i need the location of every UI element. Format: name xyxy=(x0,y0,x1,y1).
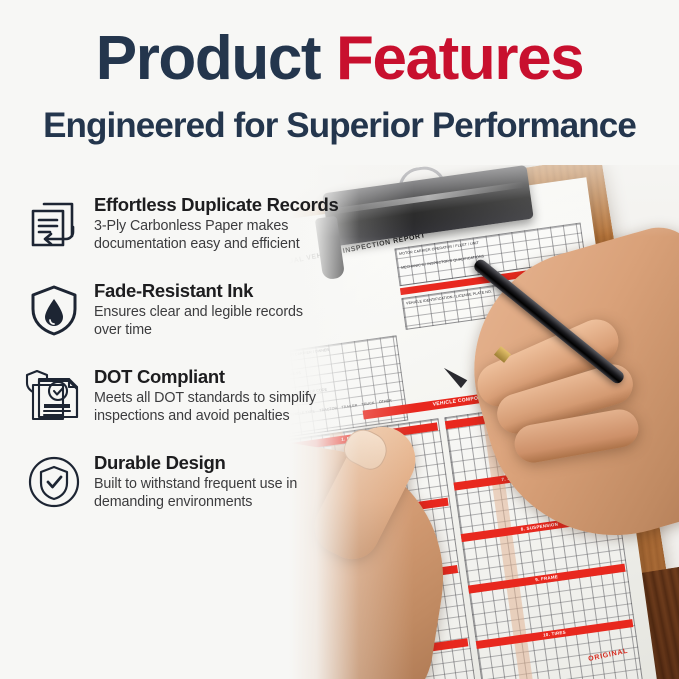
page-subtitle: Engineered for Superior Performance xyxy=(0,91,679,146)
duplicate-documents-icon xyxy=(22,192,86,256)
feature-text-block: Effortless Duplicate Records 3-Ply Carbo… xyxy=(86,192,339,254)
feature-title: DOT Compliant xyxy=(94,366,316,387)
feature-item-effortless-duplicate-records: Effortless Duplicate Records 3-Ply Carbo… xyxy=(22,192,362,264)
feature-description: Meets all DOT standards to simplify insp… xyxy=(94,389,316,425)
page-title: Product Features xyxy=(0,0,679,91)
circle-shield-check-icon xyxy=(22,450,86,514)
product-features-infographic: BUCK U.S ANNUAL VEHICLE INSPECTION REPOR… xyxy=(0,0,679,679)
feature-desc-line2: over time xyxy=(94,322,152,338)
feature-desc-line1: Meets all DOT standards to simplify xyxy=(94,390,316,406)
feature-title: Effortless Duplicate Records xyxy=(94,194,339,215)
title-part-features: Features xyxy=(336,24,583,93)
feature-description: Ensures clear and legible records over t… xyxy=(94,303,303,339)
feature-item-durable-design: Durable Design Built to withstand freque… xyxy=(22,450,362,522)
feature-title: Durable Design xyxy=(94,452,297,473)
shield-ink-drop-icon xyxy=(22,278,86,342)
feature-desc-line2: inspections and avoid penalties xyxy=(94,408,290,424)
title-part-product: Product xyxy=(96,24,320,93)
feature-item-fade-resistant-ink: Fade-Resistant Ink Ensures clear and leg… xyxy=(22,278,362,350)
feature-desc-line1: Ensures clear and legible records xyxy=(94,304,303,320)
feature-description: Built to withstand frequent use in deman… xyxy=(94,475,297,511)
feature-desc-line2: demanding environments xyxy=(94,494,252,510)
header: Product Features Engineered for Superior… xyxy=(0,0,679,146)
feature-description: 3-Ply Carbonless Paper makes documentati… xyxy=(94,217,339,253)
document-shield-check-icon xyxy=(22,364,86,428)
feature-list: Effortless Duplicate Records 3-Ply Carbo… xyxy=(22,192,362,536)
feature-text-block: DOT Compliant Meets all DOT standards to… xyxy=(86,364,316,426)
feature-desc-line1: Built to withstand frequent use in xyxy=(94,476,297,492)
feature-title: Fade-Resistant Ink xyxy=(94,280,303,301)
feature-item-dot-compliant: DOT Compliant Meets all DOT standards to… xyxy=(22,364,362,436)
feature-text-block: Fade-Resistant Ink Ensures clear and leg… xyxy=(86,278,303,340)
feature-desc-line1: 3-Ply Carbonless Paper makes xyxy=(94,218,288,234)
feature-text-block: Durable Design Built to withstand freque… xyxy=(86,450,297,512)
feature-desc-line2: documentation easy and efficient xyxy=(94,236,300,252)
